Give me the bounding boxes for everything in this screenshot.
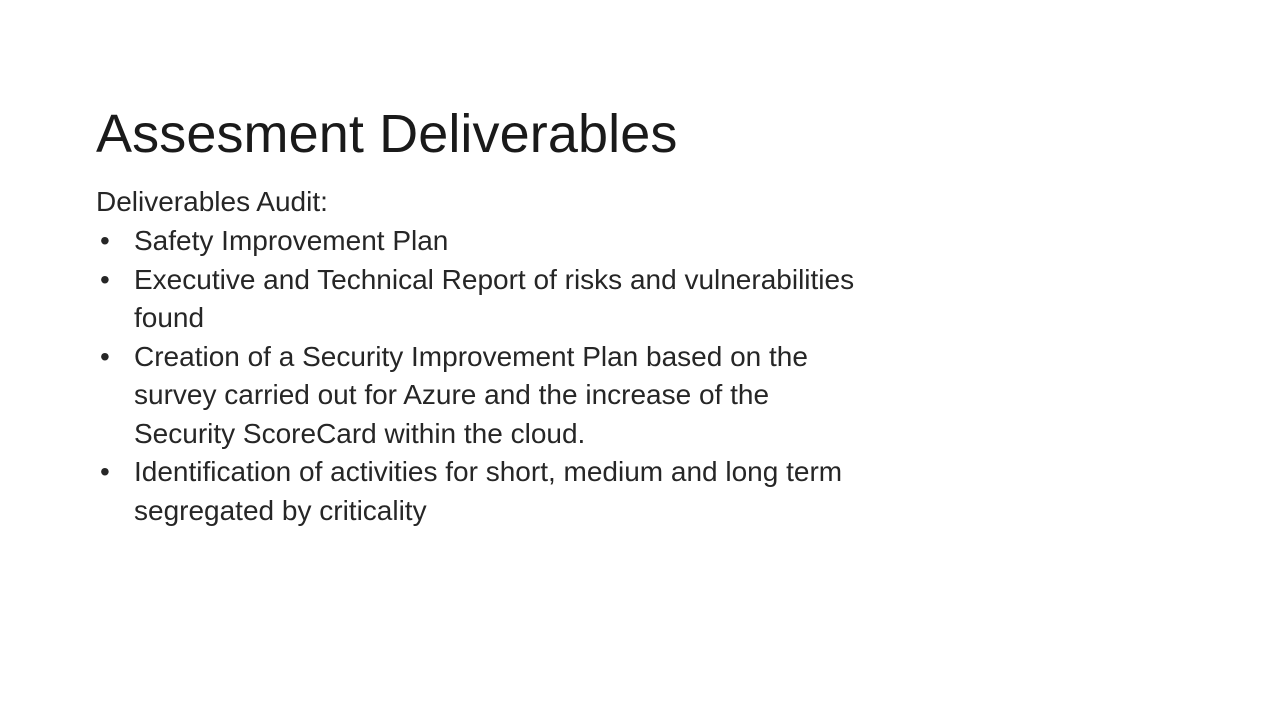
- bullet-point-icon: •: [100, 453, 110, 492]
- bullet-point-icon: •: [100, 261, 110, 300]
- list-item: • Safety Improvement Plan: [96, 222, 856, 261]
- slide-title: Assesment Deliverables: [96, 102, 1196, 166]
- deliverables-bullet-list: • Safety Improvement Plan • Executive an…: [96, 222, 856, 530]
- deliverables-audit-heading: Deliverables Audit:: [96, 183, 856, 221]
- list-item: • Identification of activities for short…: [96, 453, 856, 530]
- bullet-point-icon: •: [100, 338, 110, 377]
- list-item-label: Creation of a Security Improvement Plan …: [134, 338, 856, 454]
- slide-body: Deliverables Audit: • Safety Improvement…: [96, 183, 856, 530]
- bullet-point-icon: •: [100, 222, 110, 261]
- list-item: • Creation of a Security Improvement Pla…: [96, 338, 856, 454]
- list-item-label: Safety Improvement Plan: [134, 222, 856, 261]
- list-item: • Executive and Technical Report of risk…: [96, 261, 856, 338]
- presentation-slide: Assesment Deliverables Deliverables Audi…: [0, 0, 1280, 720]
- list-item-label: Executive and Technical Report of risks …: [134, 261, 856, 338]
- list-item-label: Identification of activities for short, …: [134, 453, 856, 530]
